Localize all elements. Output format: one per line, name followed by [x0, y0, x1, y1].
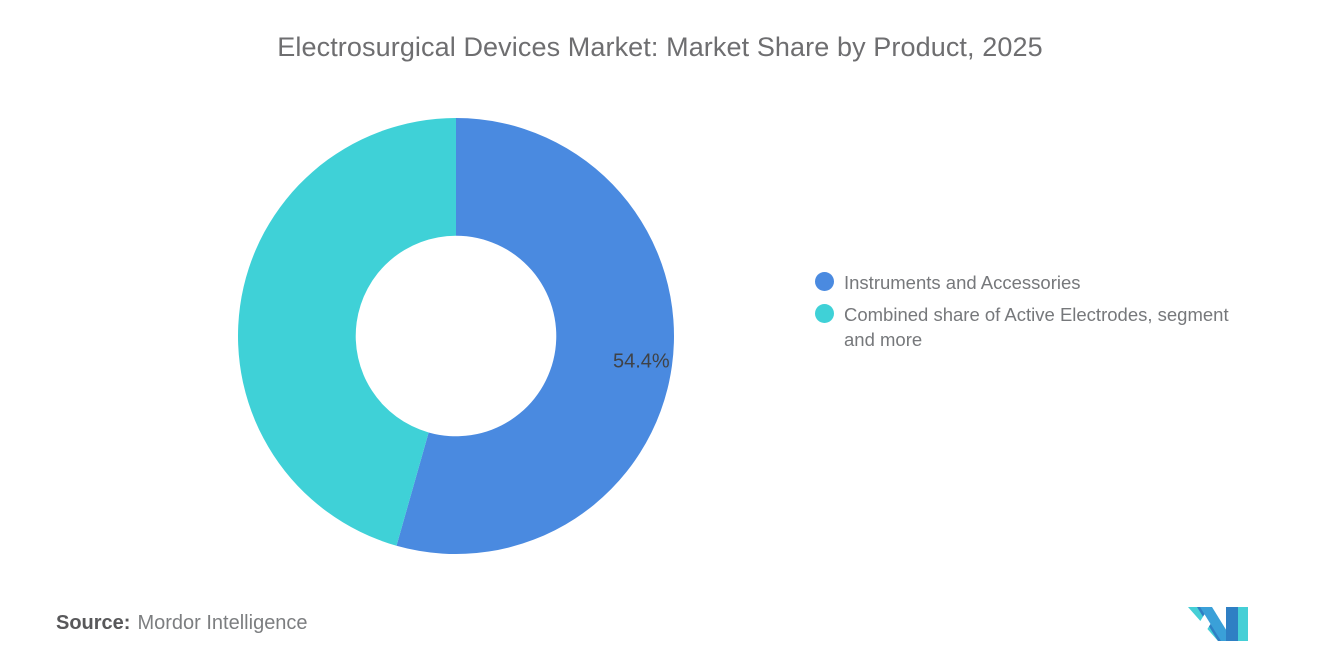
legend-item-instruments-and-accessories[interactable]: Instruments and Accessories: [815, 270, 1255, 295]
chart-page: Electrosurgical Devices Market: Market S…: [0, 0, 1320, 665]
donut-slices: [238, 118, 674, 554]
legend-item-label: Combined share of Active Electrodes, seg…: [844, 302, 1239, 352]
source-value: Mordor Intelligence: [137, 612, 307, 634]
chart-title: Electrosurgical Devices Market: Market S…: [0, 30, 1320, 64]
logo-svg: [1186, 601, 1252, 643]
legend-item-combined-share-active-electrodes[interactable]: Combined share of Active Electrodes, seg…: [815, 302, 1255, 352]
chart-legend: Instruments and Accessories Combined sha…: [815, 270, 1255, 359]
donut-chart-svg: [238, 118, 674, 554]
legend-item-label: Instruments and Accessories: [844, 270, 1081, 295]
legend-swatch-icon: [815, 304, 834, 323]
source-label: Source:: [56, 612, 130, 634]
legend-swatch-icon: [815, 272, 834, 291]
donut-chart: 54.4%: [238, 118, 674, 554]
mordor-intelligence-logo-icon: [1186, 601, 1252, 643]
source-line: Source:Mordor Intelligence: [56, 612, 308, 635]
